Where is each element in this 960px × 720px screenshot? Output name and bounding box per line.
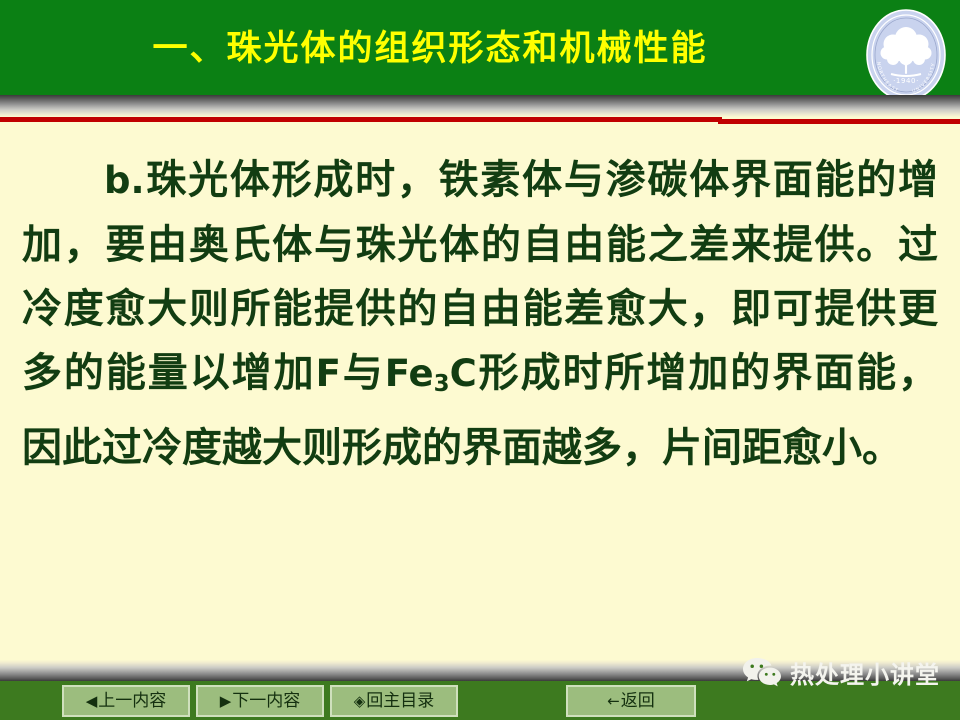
arrow-left-icon: ← <box>607 692 620 710</box>
list-marker: b. <box>104 159 145 202</box>
back-button-label: 返回 <box>621 691 655 711</box>
red-rule-right-segment <box>718 119 960 124</box>
formula-cementite-subscript: 3 <box>434 371 450 397</box>
body-paragraph: b.珠光体形成时，铁素体与渗碳体界面能的增加，要由奥氏体与珠光体的自由能之差来提… <box>22 148 938 480</box>
header-drop-shadow <box>0 95 960 117</box>
prev-content-label: 上一内容 <box>98 691 166 711</box>
formula-ferrite: F <box>316 352 341 395</box>
next-content-label: 下一内容 <box>232 691 300 711</box>
triangle-right-icon: ▶ <box>220 692 232 710</box>
formula-cementite: Fe3C <box>385 352 477 395</box>
formula-cementite-fe: Fe <box>385 352 434 395</box>
wechat-icon <box>742 656 782 690</box>
red-rule-left-segment <box>0 117 722 122</box>
back-button[interactable]: ←返回 <box>566 685 696 717</box>
watermark-label: 热处理小讲堂 <box>790 655 940 690</box>
prev-content-button[interactable]: ◀上一内容 <box>62 685 190 717</box>
formula-connector: 与 <box>341 349 385 396</box>
slide-canvas: 一、珠光体的组织形态和机械性能 <box>0 0 960 720</box>
page-title: 一、珠光体的组织形态和机械性能 <box>0 26 860 72</box>
next-content-button[interactable]: ▶下一内容 <box>196 685 324 717</box>
main-menu-button[interactable]: ◈回主目录 <box>330 685 458 717</box>
formula-cementite-c: C <box>450 352 477 395</box>
main-menu-label: 回主目录 <box>366 691 434 711</box>
header-red-rule <box>0 117 960 123</box>
university-seal-logo: ·1940· NORTHEAST UNIVERSITY <box>864 7 948 103</box>
triangle-left-icon: ◀ <box>86 692 98 710</box>
slide-body: b.珠光体形成时，铁素体与渗碳体界面能的增加，要由奥氏体与珠光体的自由能之差来提… <box>22 148 938 480</box>
diamond-icon: ◈ <box>354 692 366 710</box>
navigation-bar: ◀上一内容 ▶下一内容 ◈回主目录 <box>62 685 458 717</box>
svg-text:·1940·: ·1940· <box>893 77 919 85</box>
watermark: 热处理小讲堂 <box>742 655 940 690</box>
